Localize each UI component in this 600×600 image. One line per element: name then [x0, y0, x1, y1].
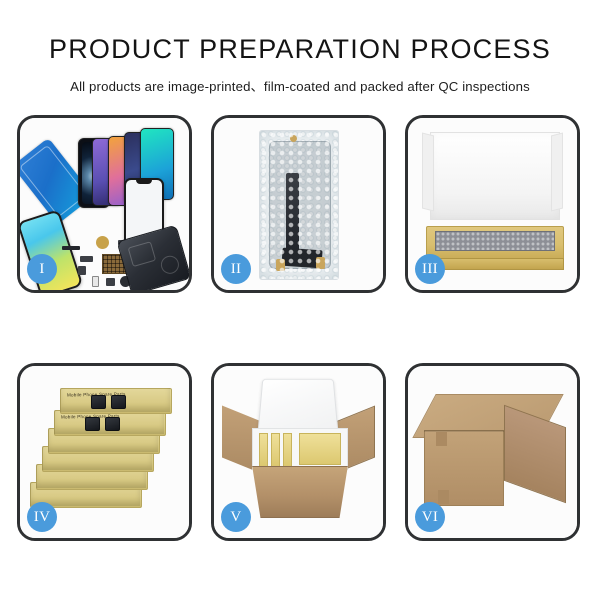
gold-contact-left-icon [276, 259, 285, 271]
process-step-panel-6: VI [405, 363, 580, 541]
bubble-wrap-bag-icon [259, 130, 339, 280]
process-step-panel-4: Mobile Phone Spare Parts Mobile Phone Sp… [17, 363, 192, 541]
part-clip-icon [80, 256, 93, 262]
step-2-illustration: II [214, 118, 383, 290]
part-speaker-icon [78, 266, 86, 275]
step-badge-4: IV [27, 502, 57, 532]
product-preparation-infographic: PRODUCT PREPARATION PROCESS All products… [0, 0, 600, 600]
product-box-icon [271, 433, 280, 467]
carton-body-icon [248, 466, 352, 518]
part-button-icon [106, 278, 115, 286]
page-subtitle: All products are image-printed、film-coat… [0, 76, 600, 95]
phone-notch-icon [136, 180, 152, 184]
carton-side-face-icon [504, 405, 566, 504]
process-step-panel-1: I [17, 115, 192, 293]
step-5-illustration: V [214, 366, 383, 538]
process-step-panel-2: II [211, 115, 386, 293]
inner-box-front-panel-icon [426, 258, 564, 270]
inner-box-lid-left-flap-icon [422, 133, 434, 212]
product-box-icon [283, 433, 292, 467]
step-badge-1: I [27, 254, 57, 284]
process-step-panel-5: V [211, 363, 386, 541]
step-6-illustration: VI [408, 366, 577, 538]
carton-tape-bottom-icon [438, 490, 449, 504]
protective-padding-icon [435, 231, 555, 251]
step-3-illustration: III [408, 118, 577, 290]
page-title: PRODUCT PREPARATION PROCESS [0, 34, 600, 65]
product-box-group-icon [299, 433, 341, 465]
part-sim-tray-icon [92, 276, 99, 287]
gold-contact-top-icon [290, 135, 297, 142]
inner-box-lid-right-flap-icon [551, 133, 563, 212]
part-strip-icon [62, 246, 80, 250]
foam-lid-icon [257, 379, 338, 435]
process-step-panel-3: III [405, 115, 580, 293]
gold-contact-right-icon [316, 257, 325, 269]
foam-liner-icon [252, 428, 348, 470]
part-coil-icon [96, 236, 109, 249]
step-badge-3: III [415, 254, 445, 284]
header: PRODUCT PREPARATION PROCESS All products… [0, 0, 600, 95]
step-badge-5: V [221, 502, 251, 532]
inner-box-lid-icon [430, 132, 560, 220]
step-1-illustration: I [20, 118, 189, 290]
step-badge-2: II [221, 254, 251, 284]
process-step-grid: I II [17, 115, 583, 541]
retail-box-stack: Mobile Phone Spare Parts Mobile Phone Sp… [28, 384, 186, 524]
carton-tape-top-icon [436, 432, 447, 446]
retail-box-icon: Mobile Phone Spare Parts [60, 388, 172, 414]
step-badge-6: VI [415, 502, 445, 532]
phone-fan-group [78, 126, 192, 212]
step-4-illustration: Mobile Phone Spare Parts Mobile Phone Sp… [20, 366, 189, 538]
product-box-icon [259, 433, 268, 467]
inner-box-tray-icon [426, 226, 564, 260]
